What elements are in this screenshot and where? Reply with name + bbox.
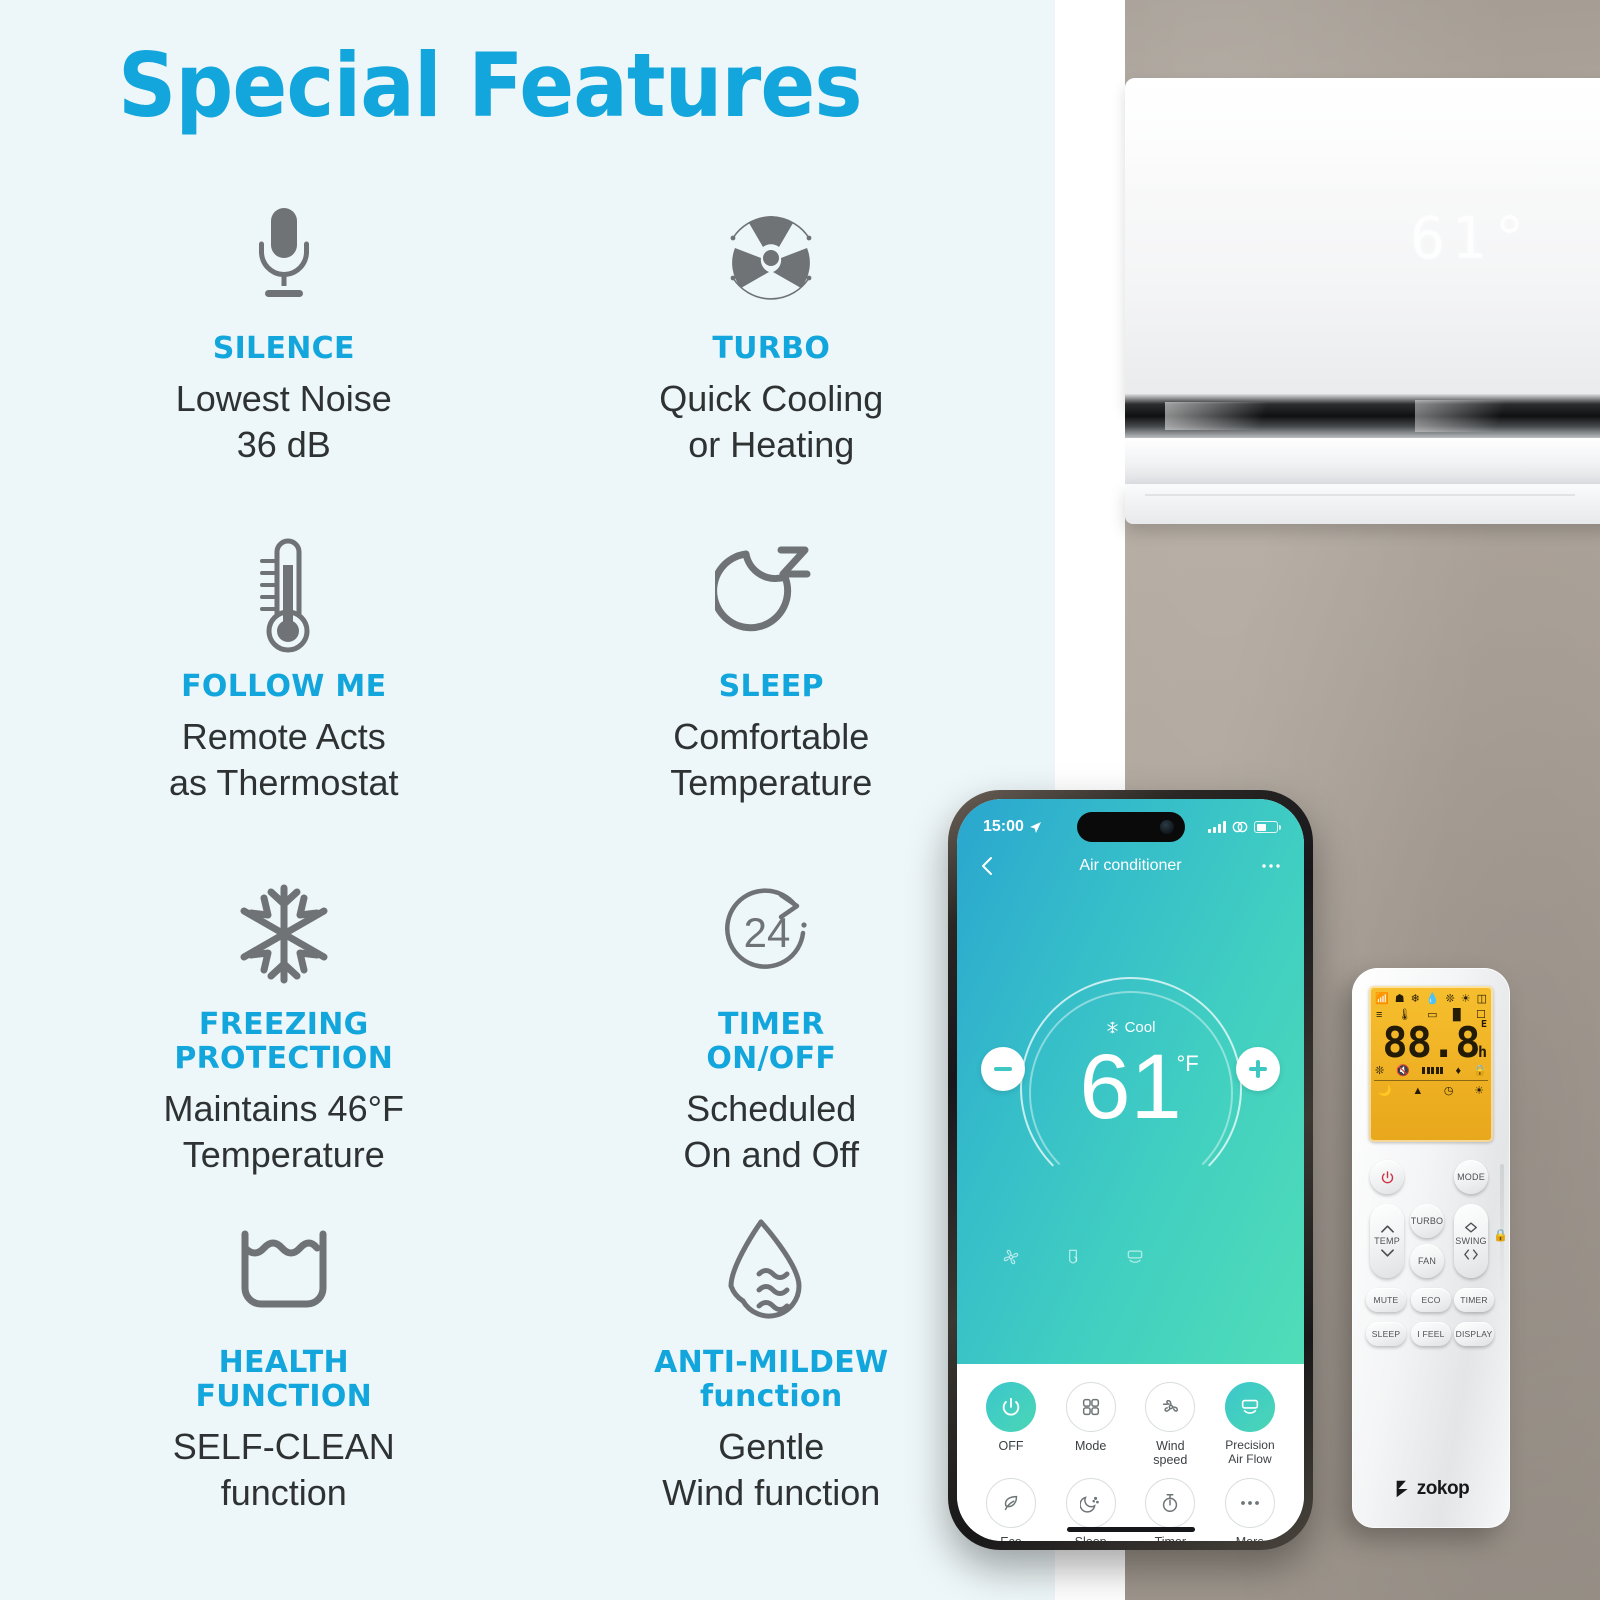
power-button[interactable] xyxy=(1370,1160,1404,1194)
remote-lcd-display: 📶 ☗ ❄ 💧 ❊ ☀ ◫ ≡ 🌡 ▭ █ ☐ 88.8 E h ❊ 🔇 ♦ 🔒 xyxy=(1369,986,1493,1142)
status-icon-row xyxy=(957,1247,1304,1267)
ac-body: 61° xyxy=(1125,78,1600,408)
brand-name: zokop xyxy=(1417,1478,1469,1500)
diamond-left-right-icon xyxy=(1464,1249,1478,1260)
turbo-button[interactable]: TURBO xyxy=(1410,1204,1444,1238)
remote-button-label: ECO xyxy=(1421,1295,1440,1305)
power-icon xyxy=(1380,1170,1395,1185)
feature-desc: SELF-CLEAN function xyxy=(40,1424,528,1515)
feature-desc: Maintains 46°F Temperature xyxy=(40,1086,528,1177)
location-arrow-icon xyxy=(1029,821,1042,834)
timer-button[interactable]: TIMER xyxy=(1454,1288,1494,1312)
ac-louver xyxy=(1125,438,1600,486)
air-conditioner-unit: 61° xyxy=(1125,78,1600,523)
remote-button-label: TIMER xyxy=(1460,1295,1487,1305)
feature-title: TIMER ON/OFF xyxy=(528,1008,1016,1076)
feature-turbo: TURBO Quick Cooling or Heating xyxy=(528,190,1016,528)
snowflake-icon xyxy=(1106,1021,1119,1034)
stopwatch-icon xyxy=(1145,1478,1195,1528)
control-wind-speed[interactable]: Wind speed xyxy=(1138,1382,1202,1468)
lcd-icon-row-5: 🌙 ▲ ◷ ☀ xyxy=(1374,1083,1488,1099)
moon-sleep-icon xyxy=(528,536,1016,656)
ac-highlight xyxy=(1125,78,1600,198)
feature-desc: Comfortable Temperature xyxy=(528,714,1016,805)
clock-icon: ◷ xyxy=(1444,1084,1454,1097)
remote-button-label: I FEEL xyxy=(1417,1329,1444,1339)
airflow-icon xyxy=(1225,1382,1275,1432)
feature-title: TURBO xyxy=(528,332,1016,366)
controls-panel: OFF Mode Wind speed xyxy=(957,1364,1304,1541)
temperature-increase-button[interactable] xyxy=(1236,1047,1280,1091)
feature-title-lower: function xyxy=(700,1379,843,1414)
signal-bars-icon xyxy=(1422,1067,1443,1074)
mute-button[interactable]: MUTE xyxy=(1366,1288,1406,1312)
microphone-icon xyxy=(40,198,528,318)
remote-button-label: TEMP xyxy=(1374,1236,1400,1246)
airflow-icon xyxy=(1125,1247,1145,1267)
remote-control: 📶 ☗ ❄ 💧 ❊ ☀ ◫ ≡ 🌡 ▭ █ ☐ 88.8 E h ❊ 🔇 ♦ 🔒 xyxy=(1352,968,1510,1528)
current-mode: Cool xyxy=(957,1019,1304,1036)
control-off[interactable]: OFF xyxy=(979,1382,1043,1468)
control-precision-air-flow[interactable]: Precision Air Flow xyxy=(1218,1382,1282,1468)
ellipsis-icon[interactable] xyxy=(1262,863,1280,869)
control-label: Timer xyxy=(1138,1535,1202,1541)
leaf-icon xyxy=(986,1478,1036,1528)
snowflake-icon: ❄ xyxy=(1411,992,1420,1005)
fan-icon: ❊ xyxy=(1446,992,1455,1005)
temperature-dial[interactable]: Cool 61 °F xyxy=(957,975,1304,1205)
feature-title-upper: ANTI-MILDEW xyxy=(654,1345,888,1380)
remote-button-label: SLEEP xyxy=(1372,1329,1400,1339)
sleep-button[interactable]: SLEEP xyxy=(1366,1322,1406,1346)
control-label: Wind speed xyxy=(1138,1439,1202,1468)
remote-button-label: DISPLAY xyxy=(1456,1329,1493,1339)
fan-icon xyxy=(1001,1247,1021,1267)
lcd-corner-label: E xyxy=(1481,1020,1486,1030)
chevron-up-icon xyxy=(1381,1225,1394,1233)
remote-button-label: TURBO xyxy=(1411,1216,1444,1226)
fan-button[interactable]: FAN xyxy=(1410,1244,1444,1278)
phone-screen[interactable]: 15:00 Air conditioner Coo xyxy=(957,799,1304,1541)
power-icon xyxy=(986,1382,1036,1432)
moon-stars-icon xyxy=(1066,1478,1116,1528)
ellipsis-icon xyxy=(1225,1478,1275,1528)
feature-title: FREEZING PROTECTION xyxy=(40,1008,528,1076)
thermometer-icon xyxy=(40,536,528,656)
grid-mode-icon xyxy=(1066,1382,1116,1432)
front-camera xyxy=(1160,820,1174,834)
home-indicator[interactable] xyxy=(1067,1527,1195,1532)
control-mode[interactable]: Mode xyxy=(1059,1382,1123,1468)
snowflake-icon xyxy=(40,874,528,994)
remote-button-label: MODE xyxy=(1457,1172,1485,1182)
feature-title: SLEEP xyxy=(528,670,1016,704)
mode-button[interactable]: MODE xyxy=(1454,1160,1488,1194)
lcd-segment-digits: 88.8 E h xyxy=(1374,1022,1488,1063)
eco-button[interactable]: ECO xyxy=(1411,1288,1451,1312)
feature-title: FOLLOW ME xyxy=(40,670,528,704)
swing-button[interactable]: SWING xyxy=(1454,1204,1488,1278)
battery-icon: ◫ xyxy=(1477,992,1487,1005)
control-eco[interactable]: Eco xyxy=(979,1478,1043,1541)
feature-follow-me: FOLLOW ME Remote Acts as Thermostat xyxy=(40,528,528,866)
control-label: Precision Air Flow xyxy=(1218,1439,1282,1467)
control-label: Eco xyxy=(979,1535,1043,1541)
status-bar-right xyxy=(1208,821,1278,833)
status-bar-left: 15:00 xyxy=(983,818,1042,836)
feature-health: HEALTH FUNCTION SELF-CLEAN function xyxy=(40,1204,528,1542)
lcd-icon-row-1: 📶 ☗ ❄ 💧 ❊ ☀ ◫ xyxy=(1374,991,1488,1007)
feature-silence: SILENCE Lowest Noise 36 dB xyxy=(40,190,528,528)
ac-led-display: 61° xyxy=(1410,204,1533,272)
control-label: Sleep xyxy=(1059,1535,1123,1541)
feature-desc: Scheduled On and Off xyxy=(528,1086,1016,1177)
temp-button[interactable]: TEMP xyxy=(1370,1204,1404,1278)
humidity-icon: 💧 xyxy=(1426,992,1440,1005)
signal-bars-icon xyxy=(1208,821,1226,833)
dynamic-island xyxy=(1077,812,1185,842)
app-nav-bar: Air conditioner xyxy=(957,851,1304,881)
brand-logo: zokop xyxy=(1352,1478,1510,1500)
lock-icon: 🔒 xyxy=(1493,1228,1508,1242)
feature-freezing-protection: FREEZING PROTECTION Maintains 46°F Tempe… xyxy=(40,866,528,1204)
diamond-up-icon xyxy=(1464,1222,1478,1233)
special-features-panel: Special Features SILENCE Lowest Noise 36… xyxy=(0,0,1055,1600)
temperature-decrease-button[interactable] xyxy=(981,1047,1025,1091)
lcd-hour-suffix: h xyxy=(1478,1045,1486,1060)
fan-blade-icon xyxy=(1145,1382,1195,1432)
temperature-unit: °F xyxy=(1177,1051,1199,1077)
remote-button-label: SWING xyxy=(1455,1236,1487,1246)
feature-title: SILENCE xyxy=(40,332,528,366)
svg-text:24: 24 xyxy=(744,909,791,956)
feature-desc: Lowest Noise 36 dB xyxy=(40,376,528,467)
ac-flap-seam xyxy=(1145,494,1575,496)
zokop-logo-mark xyxy=(1393,1478,1415,1500)
sun-icon: ☀ xyxy=(1474,1084,1484,1097)
feature-anti-mildew: ANTI-MILDEW function Gentle Wind functio… xyxy=(528,1204,1016,1542)
mode-label: Cool xyxy=(1125,1019,1156,1036)
feature-desc: Gentle Wind function xyxy=(528,1424,1016,1515)
tree-icon: ▲ xyxy=(1412,1085,1423,1097)
feature-timer: 24 TIMER ON/OFF Scheduled On and Off xyxy=(528,866,1016,1204)
features-grid: SILENCE Lowest Noise 36 dB xyxy=(40,190,1015,1542)
ifeel-button[interactable]: I FEEL xyxy=(1411,1322,1451,1346)
timer-24h-icon: 24 xyxy=(528,874,1016,994)
smartphone-mockup: 15:00 Air conditioner Coo xyxy=(948,790,1313,1550)
page-title: Special Features xyxy=(118,42,862,130)
ac-air-vent xyxy=(1125,394,1600,440)
feature-desc: Quick Cooling or Heating xyxy=(528,376,1016,467)
turbo-radiation-icon xyxy=(528,198,1016,318)
sun-icon: ☀ xyxy=(1461,992,1471,1005)
display-button[interactable]: DISPLAY xyxy=(1454,1322,1494,1346)
feature-title: HEALTH FUNCTION xyxy=(40,1346,528,1414)
feature-title: ANTI-MILDEW function xyxy=(528,1346,1016,1414)
remote-button-label: FAN xyxy=(1418,1256,1436,1266)
control-more[interactable]: More xyxy=(1218,1478,1282,1541)
humidity-icon xyxy=(1063,1247,1083,1267)
water-drop-waves-icon xyxy=(528,1212,1016,1332)
feature-sleep: SLEEP Comfortable Temperature xyxy=(528,528,1016,866)
remote-button-label: MUTE xyxy=(1374,1295,1399,1305)
remote-button-area: 🔒 MODE TEMP TURBO SWING FAN MUTE ECO TIM… xyxy=(1352,1156,1510,1446)
app-title: Air conditioner xyxy=(957,857,1304,875)
drop-icon: ☗ xyxy=(1395,992,1405,1005)
wash-basin-icon xyxy=(40,1212,528,1332)
control-label: OFF xyxy=(979,1439,1043,1453)
feature-desc: Remote Acts as Thermostat xyxy=(40,714,528,805)
status-time: 15:00 xyxy=(983,818,1024,836)
wifi-icon: 📶 xyxy=(1375,992,1389,1005)
control-label: Mode xyxy=(1059,1439,1123,1453)
lcd-digits-value: 88.8 xyxy=(1382,1018,1479,1067)
battery-icon xyxy=(1254,821,1278,833)
lcd-separator xyxy=(1374,1080,1488,1081)
ac-bottom-flap xyxy=(1125,484,1600,524)
chevron-left-icon[interactable] xyxy=(981,856,993,876)
moon-icon: 🌙 xyxy=(1378,1084,1392,1097)
controls-row-1: OFF Mode Wind speed xyxy=(979,1382,1282,1468)
link-icon xyxy=(1232,821,1248,833)
control-label: More xyxy=(1218,1535,1282,1541)
chevron-down-icon xyxy=(1381,1249,1394,1257)
